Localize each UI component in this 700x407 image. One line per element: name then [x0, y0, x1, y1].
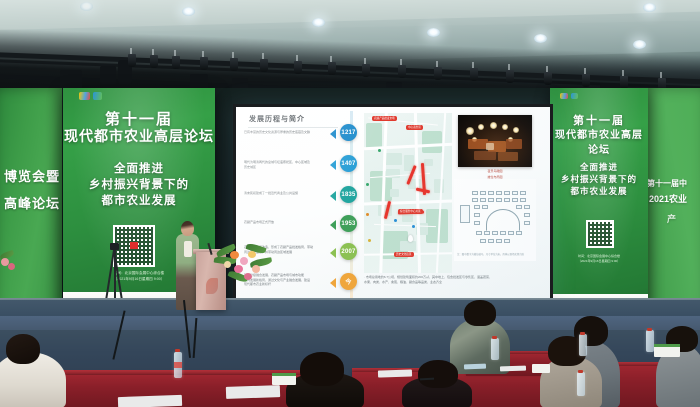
- stage-light: [544, 72, 552, 85]
- stage-light: [434, 67, 442, 80]
- timeline-badge: 1835: [340, 186, 357, 203]
- banner-qr-code[interactable]: [586, 220, 614, 248]
- booth-cell: [488, 191, 494, 195]
- map-label: 综合服务中心片区: [398, 209, 423, 214]
- site-map: 农副产品批发市场 中心商务区 综合服务中心片区 历史文化街区: [364, 113, 452, 273]
- speaker-shirt: [184, 241, 192, 257]
- booth-cell: [474, 221, 480, 225]
- timeline-item-text: 已有丰富的历史文化资源与厚重的历史底蕴及文脉: [244, 130, 328, 135]
- photo-stall-row: [474, 151, 496, 160]
- timeline-arrow-icon: [330, 278, 336, 288]
- water-bottle-cap: [647, 328, 652, 331]
- flower-bloom: [230, 251, 239, 259]
- booth-cell: [480, 198, 486, 202]
- name-card-accent: [272, 373, 296, 376]
- far-right-panel-line2: 2021农业: [649, 192, 687, 205]
- ceiling-downlight: [633, 40, 646, 49]
- name-card-accent: [654, 344, 680, 347]
- booth-cell: [472, 198, 478, 202]
- name-card-tent: [532, 364, 550, 373]
- qr-pattern: [588, 222, 612, 246]
- booth-cell: [472, 191, 478, 195]
- timeline-badge: 1217: [340, 124, 357, 141]
- photo-light-flare: [490, 122, 497, 129]
- far-left-panel-line1: 博览会暨: [4, 166, 60, 185]
- tripod-head: [110, 243, 119, 250]
- booth-cell: [508, 231, 514, 235]
- presentation-slide: 发展历程与简介 已有丰富的历史文化资源与厚重的历史底蕴及文脉 1217 明代为明…: [236, 107, 550, 301]
- timeline-arrow-icon: [330, 220, 336, 230]
- map-label: 农副产品批发市场: [372, 116, 397, 121]
- stage-light: [150, 55, 158, 68]
- banner-subtitle-line1: 全面推进: [63, 161, 215, 178]
- timeline-arrow-icon: [330, 248, 336, 258]
- booth-cell: [460, 205, 470, 223]
- conference-photo-scene: 博览会暨 高峰论坛 第十一届中 2021农业 产 第十一届 现代都市农业高层论坛…: [0, 0, 700, 407]
- booth-cell: [484, 231, 490, 235]
- podium-flower-arrangement: [214, 243, 272, 291]
- map-pin-icon: [408, 235, 413, 242]
- far-right-panel-line3: 产: [667, 212, 676, 225]
- flower-bloom: [240, 257, 248, 265]
- booth-cell: [480, 239, 486, 243]
- booth-cell: [488, 198, 494, 202]
- flower-bloom: [244, 273, 252, 280]
- booth-layout-caption: 摊位布局图: [454, 175, 536, 179]
- timeline-item-text: 明代为明清两代的皇城与坛庙祭祀区，中心区域及 历史城区: [244, 160, 328, 169]
- stage-light: [362, 64, 370, 77]
- organizer-logo-icon: [79, 92, 90, 100]
- photo-light-flare: [513, 127, 519, 133]
- ceiling-downlight: [534, 34, 547, 43]
- water-bottle-cap: [578, 370, 583, 373]
- map-building: [400, 241, 416, 251]
- speaker-head: [181, 221, 194, 236]
- stage-light: [200, 57, 208, 70]
- map-poi-dot: [368, 239, 371, 242]
- map-poi-dot: [378, 149, 381, 152]
- banner-logo-group: [79, 92, 141, 100]
- booth-cell: [482, 205, 488, 209]
- stage-light: [172, 56, 180, 69]
- booth-layout-diagram: 注：图中数字为摊位编号，尺寸单位为米，具体以现场实测为准: [454, 179, 536, 261]
- ceiling-downlight: [427, 28, 440, 37]
- booth-arc: [486, 209, 520, 231]
- booth-cell: [496, 198, 502, 202]
- booth-cell: [512, 191, 518, 195]
- banner-qr-code[interactable]: [113, 225, 155, 267]
- far-left-green-panel: 博览会暨 高峰论坛: [0, 88, 62, 316]
- photo-stall-row: [468, 139, 488, 149]
- stage-light: [260, 59, 268, 72]
- qr-center-mark: [130, 242, 138, 249]
- flower-bloom: [234, 265, 243, 273]
- stage-light: [506, 70, 514, 83]
- truss-speaker-box: [60, 70, 82, 90]
- booth-cell: [504, 198, 510, 202]
- banner-subtitle-line3: 都市农业发展: [63, 193, 215, 210]
- booth-layout-footnote: 注：图中数字为摊位编号，尺寸单位为米，具体以现场实测为准: [457, 252, 524, 256]
- booth-cell: [524, 221, 530, 225]
- audience-person-head: [464, 300, 496, 326]
- paper-document: [500, 366, 526, 372]
- booth-cell: [524, 205, 530, 209]
- audience-person-head: [6, 334, 40, 364]
- projection-screen: 发展历程与简介 已有丰富的历史文化资源与厚重的历史底蕴及文脉 1217 明代为明…: [233, 104, 553, 304]
- stage-light: [470, 68, 478, 81]
- banner-subtitle-line3: 都市农业发展: [550, 185, 648, 197]
- timeline-badge: 1953: [340, 215, 357, 232]
- paper-document: [378, 369, 412, 377]
- audience-person-head: [300, 352, 344, 386]
- organizer-logo-icon: [560, 93, 568, 99]
- banner-title-line2: 现代都市农业高层论坛: [550, 126, 648, 156]
- banner-subtitle-line2: 乡村振兴背景下的: [63, 177, 215, 194]
- timeline-item-text: 清末民初建成了一批近代商业及公共设施: [244, 191, 328, 196]
- booth-cell: [516, 205, 522, 209]
- flower-bloom: [248, 251, 256, 258]
- booth-cell: [496, 239, 502, 243]
- booth-cell: [496, 191, 502, 195]
- banner-subtitle-line1: 全面推进: [550, 161, 648, 173]
- timeline-arrow-icon: [330, 160, 336, 170]
- map-building: [384, 153, 402, 165]
- foreground-flower: [8, 263, 15, 270]
- stage-light: [582, 74, 590, 87]
- stage-light: [128, 54, 136, 67]
- truss-speaker-box: [100, 66, 116, 84]
- far-left-panel-line2: 高峰论坛: [4, 193, 60, 212]
- map-green-area: [422, 131, 442, 153]
- slide-title: 发展历程与简介: [249, 114, 305, 124]
- photo-light-flare: [478, 124, 484, 130]
- booth-cell: [520, 191, 526, 195]
- map-poi-dot: [412, 225, 415, 228]
- timeline-arrow-icon: [330, 191, 336, 201]
- map-label: 历史文化街区: [394, 252, 414, 257]
- booth-cell: [500, 231, 506, 235]
- booth-cell: [516, 231, 522, 235]
- water-bottle: [646, 330, 654, 352]
- photo-light-flare: [466, 127, 474, 135]
- ceiling-downlight: [80, 2, 93, 11]
- photo-light-flare: [502, 124, 508, 130]
- map-poi-dot: [366, 183, 369, 186]
- stage-light: [230, 58, 238, 71]
- ceiling-downlight: [182, 7, 195, 16]
- photo-stall-row: [498, 152, 518, 161]
- booth-cell: [476, 231, 482, 235]
- booth-cell: [504, 191, 510, 195]
- paper-document: [226, 385, 280, 399]
- banner-subtitle-line2: 乡村振兴背景下的: [550, 173, 648, 185]
- map-poi-dot: [394, 219, 397, 222]
- photo-stall-row: [506, 139, 522, 149]
- paper-document: [118, 395, 182, 407]
- timeline-badge: 1407: [340, 155, 357, 172]
- map-green-area: [366, 123, 382, 149]
- ceiling-downlight: [312, 18, 325, 27]
- co-organizer-logo-icon: [93, 92, 102, 100]
- timeline-badge: 今: [340, 273, 357, 290]
- flower-bloom: [224, 261, 231, 268]
- photo-caption: 夜景鸟瞰图: [458, 169, 532, 173]
- far-right-panel-line1: 第十一届中: [647, 178, 687, 189]
- stage-light: [398, 65, 406, 78]
- slide-bullet-text: · 市场总用地约6.7公顷，规划建筑面积约200万㎡，其中地上、包含批发区与零售…: [364, 275, 536, 285]
- map-label: 中心商务区: [406, 125, 423, 130]
- booth-cell: [474, 205, 480, 209]
- stage-light: [294, 61, 302, 74]
- flower-bloom: [252, 265, 260, 273]
- booth-cell: [480, 191, 486, 195]
- night-aerial-photo: [458, 115, 532, 167]
- banner-qr-note-line2: （2021年9月16日星期四 9:00）: [550, 259, 648, 264]
- water-bottle-cap: [492, 336, 497, 339]
- booth-cell: [474, 213, 480, 217]
- map-poi-dot: [366, 213, 369, 216]
- map-building: [424, 159, 433, 166]
- water-bottle-label: [174, 362, 182, 368]
- booth-cell: [512, 198, 518, 202]
- banner-title-line2: 现代都市农业高层论坛: [63, 126, 215, 146]
- banner-logo-group: [560, 93, 607, 99]
- water-bottle-cap: [580, 332, 585, 335]
- water-bottle-cap: [175, 349, 180, 352]
- right-forum-banner: 第十一届 现代都市农业高层论坛 全面推进 乡村振兴背景下的 都市农业发展 时间：…: [550, 88, 648, 316]
- water-bottle: [577, 372, 585, 396]
- audience-person-head: [418, 360, 458, 388]
- co-organizer-logo-icon: [571, 93, 578, 99]
- map-building: [402, 213, 413, 222]
- booth-cell: [524, 213, 530, 217]
- far-right-green-panel: 第十一届中 2021农业 产: [645, 88, 700, 316]
- timeline-badge: 2007: [340, 243, 357, 260]
- water-bottle: [579, 334, 587, 356]
- booth-cell: [520, 198, 526, 202]
- water-bottle: [491, 338, 499, 360]
- slide-title-rule: [248, 127, 338, 128]
- booth-cell: [488, 239, 494, 243]
- timeline-item-text: 农副产品市场正式开放: [244, 220, 328, 225]
- paper-document: [464, 364, 486, 370]
- booth-cell: [504, 239, 510, 243]
- banner-qr-note-line1: 时间：北京国际会展中心综合楼: [550, 254, 648, 259]
- timeline-arrow-icon: [330, 129, 336, 139]
- photo-stall-row: [486, 143, 494, 150]
- map-building: [390, 189, 399, 197]
- ceiling-downlight: [643, 3, 656, 12]
- stage-light: [328, 62, 336, 75]
- booth-cell: [492, 231, 498, 235]
